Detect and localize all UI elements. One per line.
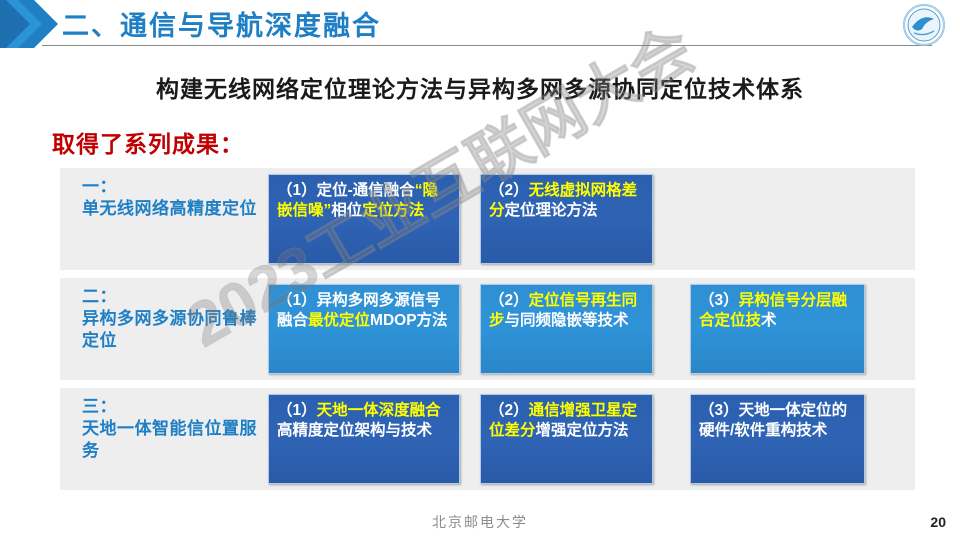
- achievements-matrix: 一：单无线网络高精度定位（1）定位-通信融合“隐嵌信噪”相位定位方法（2）无线虚…: [60, 168, 915, 490]
- header-chevron-icon: [0, 0, 70, 48]
- achievement-card[interactable]: （2）定位信号再生同步与同频隐嵌等技术: [480, 284, 653, 374]
- achievement-card[interactable]: （2）无线虚拟网格差分定位理论方法: [480, 174, 653, 264]
- card-text: 术: [761, 312, 777, 329]
- matrix-row: 三：天地一体智能信位置服务（1）天地一体深度融合高精度定位架构与技术（2）通信增…: [60, 388, 915, 490]
- row-label-text: 天地一体智能信位置服务: [82, 419, 257, 460]
- slide-header: 二、通信与导航深度融合: [0, 0, 960, 56]
- card-text: （2）: [489, 182, 529, 199]
- card-text-highlight: 最优定位: [308, 312, 370, 329]
- row-ordinal: 二：: [82, 286, 267, 308]
- card-text: （2）: [489, 292, 529, 309]
- card-text: （1）: [277, 402, 317, 419]
- card-text: 高精度定位架构与技术: [277, 422, 432, 439]
- card-text-highlight: 定位方法: [362, 202, 424, 219]
- achievement-card[interactable]: （1）天地一体深度融合高精度定位架构与技术: [268, 394, 460, 484]
- achievement-card[interactable]: （3）天地一体定位的硬件/软件重构技术: [690, 394, 865, 484]
- row-label: 三：天地一体智能信位置服务: [82, 396, 267, 461]
- row-ordinal: 三：: [82, 396, 267, 418]
- bupt-crest-logo: [902, 3, 946, 47]
- row-label: 二：异构多网多源协同鲁棒定位: [82, 286, 267, 351]
- page-title: 二、通信与导航深度融合: [62, 4, 381, 43]
- row-ordinal: 一：: [82, 176, 267, 198]
- achievement-card[interactable]: （2）通信增强卫星定位差分增强定位方法: [480, 394, 653, 484]
- card-text: （3）天地一体定位的硬件/软件重构技术: [699, 402, 847, 439]
- matrix-row: 二：异构多网多源协同鲁棒定位（1）异构多网多源信号融合最优定位MDOP方法（2）…: [60, 278, 915, 380]
- card-text: MDOP方法: [370, 312, 448, 329]
- main-heading: 构建无线网络定位理论方法与异构多网多源协同定位技术体系: [0, 70, 960, 104]
- card-text: 定位理论方法: [505, 202, 598, 219]
- achievements-subtitle: 取得了系列成果：: [52, 125, 244, 159]
- page-number: 20: [930, 514, 946, 530]
- card-text: 与同频隐嵌等技术: [505, 312, 629, 329]
- card-text: 增强定位方法: [536, 422, 629, 439]
- achievement-card[interactable]: （3）异构信号分层融合定位技术: [690, 284, 865, 374]
- footer-organization: 北京邮电大学: [0, 512, 960, 532]
- card-text-highlight: 天地一体深度融合: [317, 402, 441, 419]
- row-label: 一：单无线网络高精度定位: [82, 176, 267, 220]
- card-text: 相位: [331, 202, 362, 219]
- achievement-card[interactable]: （1）定位-通信融合“隐嵌信噪”相位定位方法: [268, 174, 460, 264]
- header-divider: [42, 45, 932, 46]
- achievement-card[interactable]: （1）异构多网多源信号融合最优定位MDOP方法: [268, 284, 460, 374]
- row-label-text: 单无线网络高精度定位: [82, 199, 257, 218]
- card-text: （3）: [699, 292, 739, 309]
- matrix-row: 一：单无线网络高精度定位（1）定位-通信融合“隐嵌信噪”相位定位方法（2）无线虚…: [60, 168, 915, 270]
- card-text: （2）: [489, 402, 529, 419]
- card-text: （1）定位-通信融合: [277, 182, 415, 199]
- row-label-text: 异构多网多源协同鲁棒定位: [82, 309, 257, 350]
